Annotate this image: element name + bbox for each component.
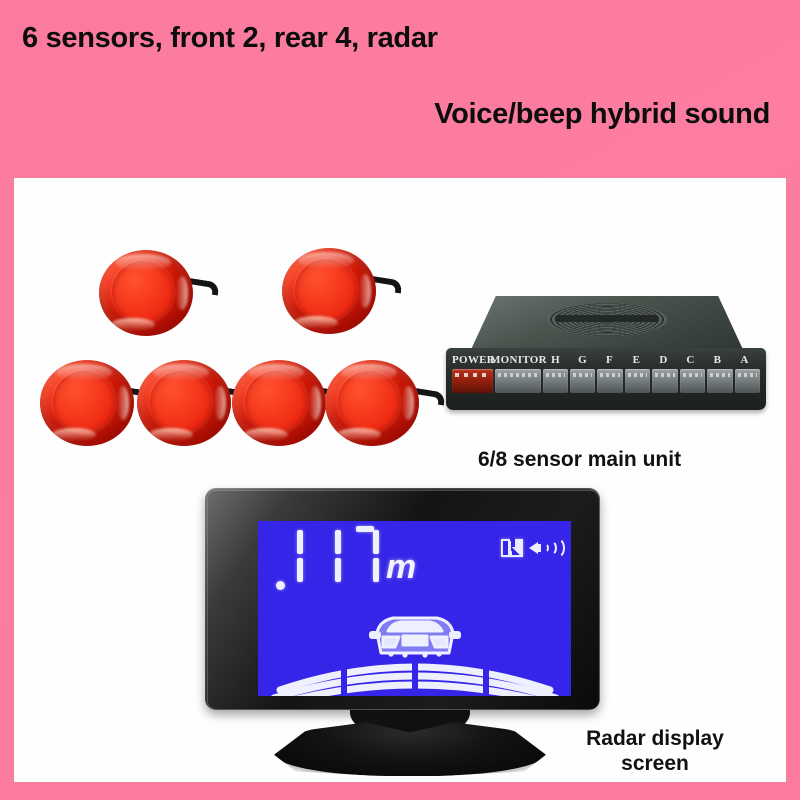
distance-digit-2 — [312, 526, 342, 588]
speaker-grille-icon — [547, 303, 667, 336]
port-label-b: B — [704, 354, 731, 366]
main-control-unit: POWER MONITOR H G F E D C B A — [446, 296, 766, 438]
sensor-highlight — [153, 364, 209, 381]
port-monitor — [495, 369, 540, 393]
port-f — [597, 369, 622, 393]
seg-c — [297, 558, 303, 582]
distance-digit-1 — [274, 526, 304, 588]
seg-b — [373, 530, 379, 554]
port-pins — [710, 373, 729, 377]
port-pins — [455, 373, 490, 377]
parking-sensor-5 — [232, 360, 326, 446]
sensor-highlight — [56, 364, 112, 381]
radar-display-monitor: m — [205, 488, 615, 778]
lcd-screen: m — [258, 521, 571, 696]
port-label-c: C — [677, 354, 704, 366]
seg-b — [297, 530, 303, 554]
parking-sensor-1 — [99, 250, 193, 336]
seg-c — [335, 558, 341, 582]
main-unit-front-panel: POWER MONITOR H G F E D C B A — [446, 348, 766, 410]
port-row — [452, 369, 760, 395]
sensor-body — [40, 360, 134, 446]
sensor-body — [232, 360, 326, 446]
monitor-bezel: m — [205, 488, 600, 710]
page-title: 6 sensors, front 2, rear 4, radar — [22, 22, 438, 54]
distance-digit-3 — [350, 526, 380, 588]
sensor-highlight — [298, 252, 354, 269]
caption-main-unit: 6/8 sensor main unit — [478, 448, 681, 473]
seg-a — [356, 526, 374, 532]
port-a — [735, 369, 760, 393]
sensor-highlight — [176, 276, 188, 310]
seg-b — [335, 530, 341, 554]
port-b — [707, 369, 732, 393]
lcd-status-icons — [501, 537, 559, 559]
port-label-monitor: MONITOR — [490, 354, 542, 366]
port-label-row: POWER MONITOR H G F E D C B A — [452, 352, 760, 367]
distance-readout: m — [274, 526, 418, 592]
sensor-highlight — [309, 386, 321, 420]
port-pins — [738, 373, 757, 377]
rear-obstacle-alert-icon — [501, 539, 523, 557]
port-c — [680, 369, 705, 393]
sensor-highlight — [294, 316, 338, 329]
sensor-highlight — [111, 318, 155, 331]
sensor-highlight — [359, 274, 371, 308]
port-pins — [573, 373, 592, 377]
parking-sensor-3 — [40, 360, 134, 446]
port-label-g: G — [569, 354, 596, 366]
port-label-power: POWER — [452, 354, 490, 366]
parking-sensor-6 — [325, 360, 419, 446]
sensor-highlight — [244, 428, 288, 441]
port-label-h: H — [542, 354, 569, 366]
port-power — [452, 369, 493, 393]
sensor-highlight — [149, 428, 193, 441]
sensor-highlight — [115, 254, 171, 271]
port-pins — [498, 373, 537, 377]
speaker-icon — [529, 537, 559, 559]
port-e — [625, 369, 650, 393]
port-label-f: F — [596, 354, 623, 366]
sensor-highlight — [341, 364, 397, 381]
port-pins — [655, 373, 674, 377]
subtitle-voice-beep: Voice/beep hybrid sound — [400, 98, 770, 130]
distance-arc-indicator — [270, 640, 560, 696]
sensor-body — [325, 360, 419, 446]
sensor-highlight — [117, 386, 129, 420]
sensor-highlight — [337, 428, 381, 441]
seg-c — [373, 558, 379, 582]
sensor-highlight — [214, 386, 226, 420]
port-d — [652, 369, 677, 393]
port-pins — [546, 373, 565, 377]
decimal-point — [276, 581, 285, 590]
port-pins — [600, 373, 619, 377]
port-pins — [628, 373, 647, 377]
port-label-d: D — [650, 354, 677, 366]
main-unit-top-shell — [468, 296, 746, 356]
port-label-a: A — [731, 354, 758, 366]
port-label-e: E — [623, 354, 650, 366]
sensor-body — [99, 250, 193, 336]
distance-unit-label: m — [386, 548, 416, 587]
parking-sensor-4 — [137, 360, 231, 446]
parking-sensor-2 — [282, 248, 376, 334]
sensor-highlight — [52, 428, 96, 441]
sensor-body — [282, 248, 376, 334]
port-g — [570, 369, 595, 393]
caption-radar-display: Radar display screen — [555, 727, 755, 777]
product-image-page: 6 sensors, front 2, rear 4, radar Voice/… — [0, 0, 800, 800]
sensor-highlight — [402, 386, 414, 420]
sensor-body — [137, 360, 231, 446]
sensor-highlight — [248, 364, 304, 381]
product-panel: POWER MONITOR H G F E D C B A — [14, 178, 786, 782]
port-h — [543, 369, 568, 393]
speaker-wave — [547, 537, 565, 559]
port-pins — [683, 373, 702, 377]
